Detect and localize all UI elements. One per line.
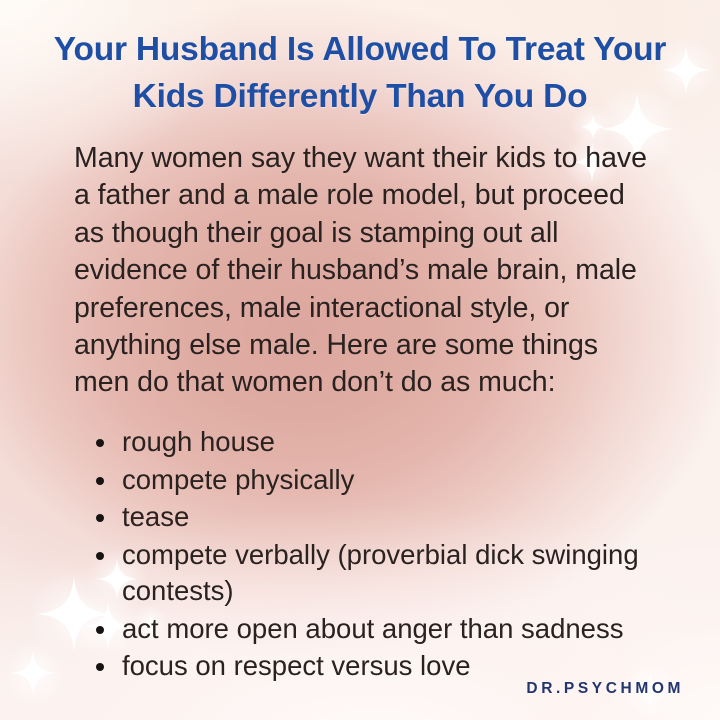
body-paragraph: Many women say they want their kids to h… [74, 140, 652, 402]
list-item: compete verbally (proverbial dick swingi… [92, 537, 672, 610]
list-item: act more open about anger than sadness [92, 611, 672, 648]
social-post-canvas: Your Husband Is Allowed To Treat Your Ki… [0, 0, 720, 720]
brand-watermark: DR.PSYCHMOM [526, 680, 684, 698]
list-item: tease [92, 499, 672, 536]
page-title: Your Husband Is Allowed To Treat Your Ki… [14, 26, 706, 120]
list-item-label: focus on respect versus love [122, 650, 471, 681]
list-item-label: compete verbally (proverbial dick swingi… [122, 539, 639, 607]
bullet-dot-icon [96, 477, 104, 485]
bullet-dot-icon [96, 552, 104, 560]
bullet-dot-icon [96, 439, 104, 447]
bullet-dot-icon [96, 663, 104, 671]
list-item-label: tease [122, 501, 189, 532]
list-item: rough house [92, 424, 672, 461]
list-item-label: act more open about anger than sadness [122, 613, 623, 644]
bullet-dot-icon [96, 626, 104, 634]
list-item: compete physically [92, 462, 672, 499]
list-item-label: rough house [122, 426, 275, 457]
post-content: Your Husband Is Allowed To Treat Your Ki… [0, 0, 720, 720]
bullet-dot-icon [96, 514, 104, 522]
behaviors-list: rough house compete physically tease com… [92, 424, 672, 686]
list-item-label: compete physically [122, 464, 354, 495]
